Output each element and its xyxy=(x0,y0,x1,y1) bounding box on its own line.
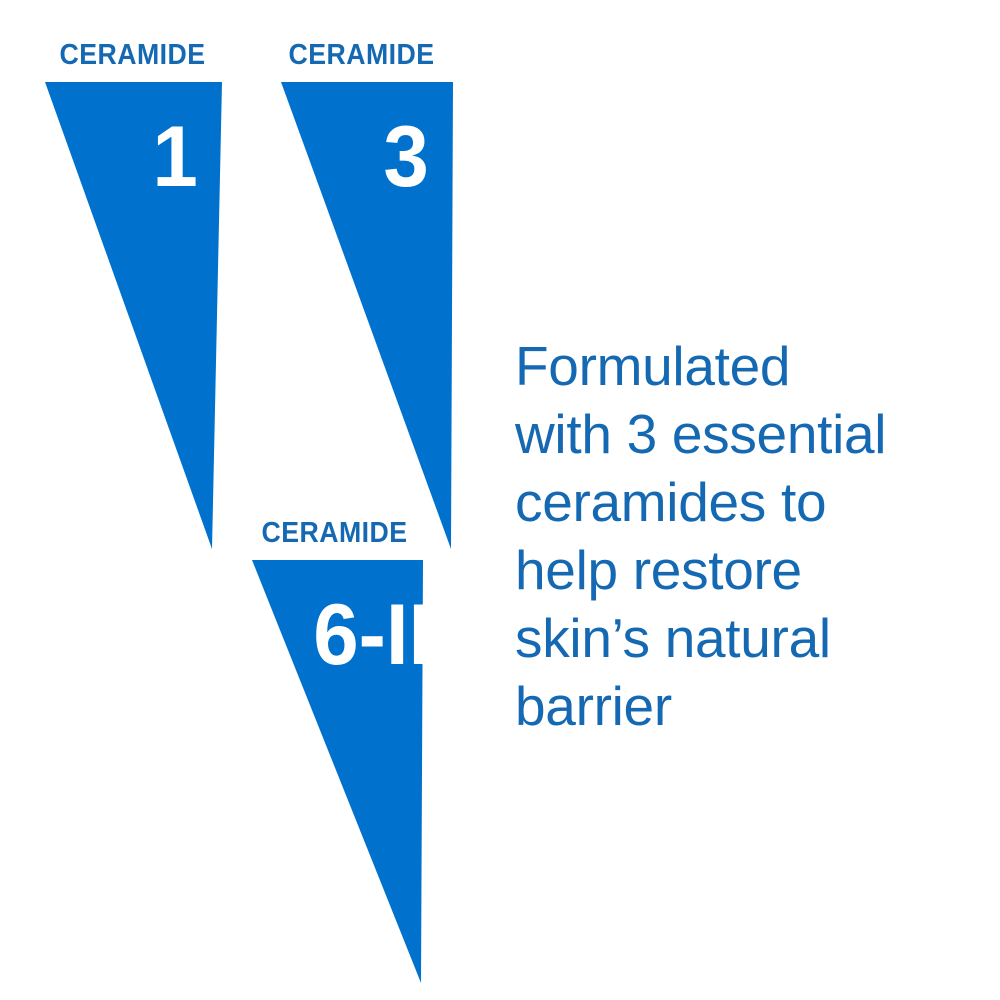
ceramide-label-3: CERAMIDE xyxy=(231,516,438,550)
description-line: help restore xyxy=(515,536,985,604)
description-line: Formulated xyxy=(515,332,985,400)
ceramide-badge-2: CERAMIDE 3 xyxy=(249,38,474,508)
ceramide-number-1: 1 xyxy=(153,114,198,200)
description-text: Formulated with 3 essential ceramides to… xyxy=(515,332,985,740)
description-line: ceramides to xyxy=(515,468,985,536)
ceramide-label-1: CERAMIDE xyxy=(29,38,236,72)
ceramide-badge-1: CERAMIDE 1 xyxy=(20,38,245,508)
ceramide-number-3: 3 xyxy=(384,114,429,200)
pennant-triangle-icon xyxy=(249,82,474,552)
ceramide-label-2: CERAMIDE xyxy=(258,38,465,72)
description-line: barrier xyxy=(515,672,985,740)
description-line: skin’s natural xyxy=(515,604,985,672)
ceramide-infographic: CERAMIDE 1 CERAMIDE 3 CERAMIDE 6-II Form… xyxy=(0,0,1000,1000)
ceramide-number-6-ii: 6-II xyxy=(313,592,431,678)
pennant-triangle-icon xyxy=(20,82,245,552)
description-line: with 3 essential xyxy=(515,400,985,468)
ceramide-badge-3: CERAMIDE 6-II xyxy=(222,516,447,986)
